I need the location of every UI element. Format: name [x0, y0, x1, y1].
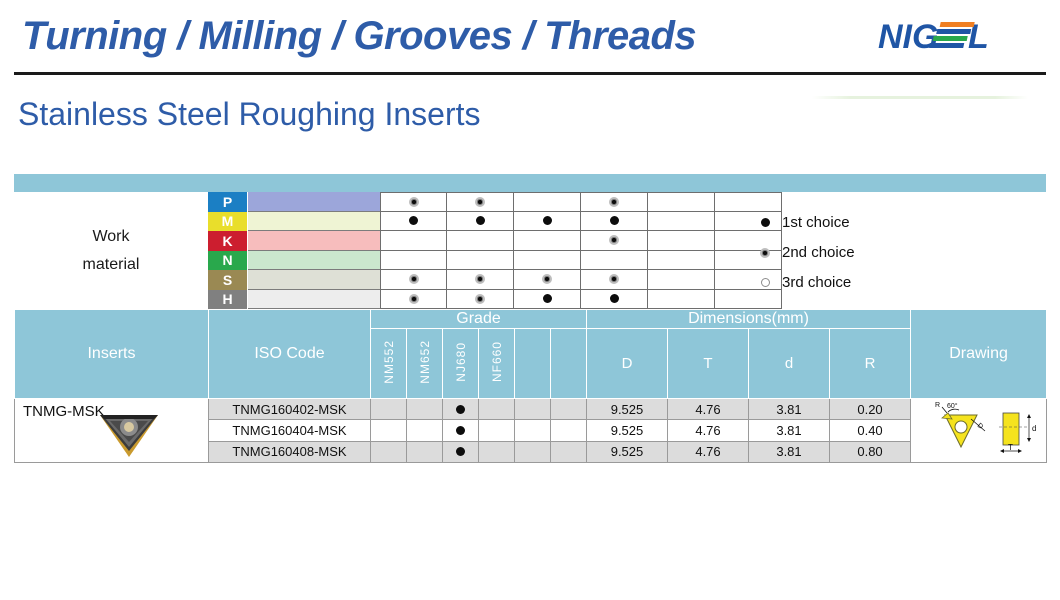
grade-cell	[443, 399, 479, 420]
second-choice-icon	[475, 197, 485, 207]
legend-item: 3rd choice	[754, 270, 1034, 295]
svg-text:d: d	[1032, 424, 1036, 433]
grade-cell	[443, 441, 479, 462]
work-material-code-p: P	[208, 192, 248, 212]
work-material-cell	[715, 192, 782, 212]
work-material-cell	[581, 231, 648, 251]
work-material-cell	[514, 192, 581, 212]
work-material-cell	[447, 231, 514, 251]
svg-text:T: T	[1008, 443, 1013, 452]
legend-label: 2nd choice	[782, 244, 855, 261]
work-material-block: Work material PMKNSH 1st choice 2nd choi…	[14, 192, 1046, 309]
dimension-cell-t: 4.76	[668, 441, 749, 462]
work-material-swatch-s	[248, 270, 380, 290]
decorative-artifact	[812, 96, 1028, 99]
work-material-cell	[581, 290, 648, 310]
second-choice-icon	[609, 274, 619, 284]
work-material-cell	[581, 192, 648, 212]
second-choice-icon	[609, 197, 619, 207]
work-material-cell	[380, 192, 447, 212]
dimension-cell-d: 9.525	[587, 420, 668, 441]
work-material-label-line2: material	[83, 251, 140, 279]
work-material-cell	[648, 192, 715, 212]
grade-cell	[407, 441, 443, 462]
choice-legend: 1st choice 2nd choice 3rd choice	[754, 210, 1034, 300]
second-choice-icon	[475, 294, 485, 304]
dimension-cell-t: 4.76	[668, 420, 749, 441]
svg-text:NIG: NIG	[878, 18, 938, 56]
work-material-label: Work material	[14, 192, 208, 309]
work-material-cell	[380, 290, 447, 310]
grade-cell	[515, 399, 551, 420]
work-material-code-h: H	[208, 290, 248, 310]
slide-page: Turning / Milling / Grooves / Threads NI…	[0, 0, 1060, 600]
grade-cell	[443, 420, 479, 441]
work-material-cell	[648, 290, 715, 310]
grade-cell	[551, 441, 587, 462]
work-material-cell	[514, 212, 581, 232]
work-material-cell	[514, 270, 581, 290]
work-material-cell	[380, 212, 447, 232]
header-grade-nj680: NJ680	[443, 329, 479, 399]
header-grade-nf660: NF660	[479, 329, 515, 399]
work-material-cell	[648, 251, 715, 271]
dimension-drawing-icon: R60°DdT	[915, 401, 1043, 461]
work-material-swatch-p	[248, 192, 380, 212]
grade-cell	[479, 420, 515, 441]
insert-spec-table: Inserts ISO Code Grade Dimensions(mm) Dr…	[14, 309, 1047, 463]
table-header-row-1: Inserts ISO Code Grade Dimensions(mm) Dr…	[15, 310, 1047, 329]
work-material-swatch-k	[248, 231, 380, 251]
insert-family-label: TNMG-MSK	[23, 403, 105, 420]
grade-cell	[551, 420, 587, 441]
dimension-cell-d: 9.525	[587, 441, 668, 462]
page-header: Turning / Milling / Grooves / Threads NI…	[0, 0, 1060, 72]
work-material-cell	[447, 270, 514, 290]
dimension-cell-t: 4.76	[668, 399, 749, 420]
header-dimension-d: d	[749, 329, 830, 399]
work-material-cell	[447, 290, 514, 310]
grade-cell	[479, 441, 515, 462]
work-material-cell	[447, 192, 514, 212]
dimension-cell-r: 0.40	[830, 420, 911, 441]
first-choice-icon	[456, 447, 465, 456]
work-material-cell	[648, 212, 715, 232]
second-choice-icon	[754, 248, 776, 258]
work-material-swatch-n	[248, 251, 380, 271]
legend-item: 1st choice	[754, 210, 1034, 235]
second-choice-icon	[409, 274, 419, 284]
first-choice-icon	[610, 216, 619, 225]
dimension-cell-d: 3.81	[749, 441, 830, 462]
first-choice-icon	[456, 426, 465, 435]
second-choice-icon	[542, 274, 552, 284]
work-material-cell	[514, 231, 581, 251]
table-body: TNMG-MSKTNMG160402-MSK9.5254.763.810.20R…	[15, 399, 1047, 463]
first-choice-icon	[409, 216, 418, 225]
svg-text:R: R	[935, 402, 940, 409]
grade-cell	[551, 399, 587, 420]
dimension-cell-d: 3.81	[749, 399, 830, 420]
header-dimension-d: D	[587, 329, 668, 399]
legend-label: 1st choice	[782, 214, 850, 231]
drawing-cell: R60°DdT	[911, 399, 1047, 463]
header-dimension-t: T	[668, 329, 749, 399]
legend-item: 2nd choice	[754, 240, 1034, 265]
grade-cell	[407, 420, 443, 441]
third-choice-icon	[754, 278, 776, 287]
insert-family-cell: TNMG-MSK	[15, 399, 209, 463]
second-choice-icon	[409, 197, 419, 207]
iso-code-cell: TNMG160404-MSK	[209, 420, 371, 441]
header-grade-blank-4	[515, 329, 551, 399]
header-dimensions: Dimensions(mm)	[587, 310, 911, 329]
grade-cell	[371, 441, 407, 462]
work-material-cell	[648, 270, 715, 290]
insert-photo-icon	[96, 401, 162, 459]
work-material-cell	[514, 251, 581, 271]
first-choice-icon	[476, 216, 485, 225]
iso-code-cell: TNMG160402-MSK	[209, 399, 371, 420]
first-choice-icon	[543, 216, 552, 225]
grade-cell	[371, 399, 407, 420]
table-row[interactable]: TNMG-MSKTNMG160402-MSK9.5254.763.810.20R…	[15, 399, 1047, 420]
second-choice-icon	[609, 235, 619, 245]
second-choice-icon	[475, 274, 485, 284]
header-divider	[14, 72, 1046, 75]
grade-cell	[479, 399, 515, 420]
work-material-cell	[380, 231, 447, 251]
header-grade: Grade	[371, 310, 587, 329]
work-material-cell	[581, 212, 648, 232]
work-material-cell	[581, 251, 648, 271]
header-grade-blank-5	[551, 329, 587, 399]
work-material-swatch-m	[248, 212, 380, 232]
header-grade-nm552: NM552	[371, 329, 407, 399]
header-iso-code: ISO Code	[209, 310, 371, 399]
header-dimension-r: R	[830, 329, 911, 399]
grade-cell	[407, 399, 443, 420]
grade-cell	[515, 420, 551, 441]
work-material-cell	[447, 212, 514, 232]
grade-cell	[515, 441, 551, 462]
page-title: Stainless Steel Roughing Inserts	[18, 96, 480, 133]
work-material-swatch-h	[248, 290, 380, 310]
work-material-cell	[447, 251, 514, 271]
sheet-top-band	[14, 174, 1046, 192]
work-material-cell	[380, 270, 447, 290]
spec-sheet: Work material PMKNSH 1st choice 2nd choi…	[14, 174, 1046, 463]
iso-code-cell: TNMG160408-MSK	[209, 441, 371, 462]
work-material-cell	[581, 270, 648, 290]
dimension-cell-d: 9.525	[587, 399, 668, 420]
dimension-cell-d: 3.81	[749, 420, 830, 441]
header-drawing: Drawing	[911, 310, 1047, 399]
work-material-cell	[514, 290, 581, 310]
work-material-grid: PMKNSH	[208, 192, 784, 309]
work-material-cell	[380, 251, 447, 271]
work-material-code-k: K	[208, 231, 248, 251]
svg-text:60°: 60°	[947, 402, 958, 410]
work-material-code-m: M	[208, 212, 248, 232]
work-material-code-s: S	[208, 270, 248, 290]
first-choice-icon	[610, 294, 619, 303]
legend-label: 3rd choice	[782, 274, 851, 291]
grade-cell	[371, 420, 407, 441]
first-choice-icon	[456, 405, 465, 414]
work-material-code-n: N	[208, 251, 248, 271]
first-choice-icon	[543, 294, 552, 303]
dimension-cell-r: 0.20	[830, 399, 911, 420]
work-material-cell	[648, 231, 715, 251]
second-choice-icon	[409, 294, 419, 304]
dimension-cell-r: 0.80	[830, 441, 911, 462]
brand-heading: Turning / Milling / Grooves / Threads	[22, 14, 696, 59]
first-choice-icon	[754, 218, 776, 227]
nigel-logo-icon: NIG L	[876, 16, 1044, 60]
header-grade-nm652: NM652	[407, 329, 443, 399]
work-material-label-line1: Work	[92, 223, 129, 251]
header-inserts: Inserts	[15, 310, 209, 399]
nigel-logo: NIG L	[874, 16, 1044, 60]
